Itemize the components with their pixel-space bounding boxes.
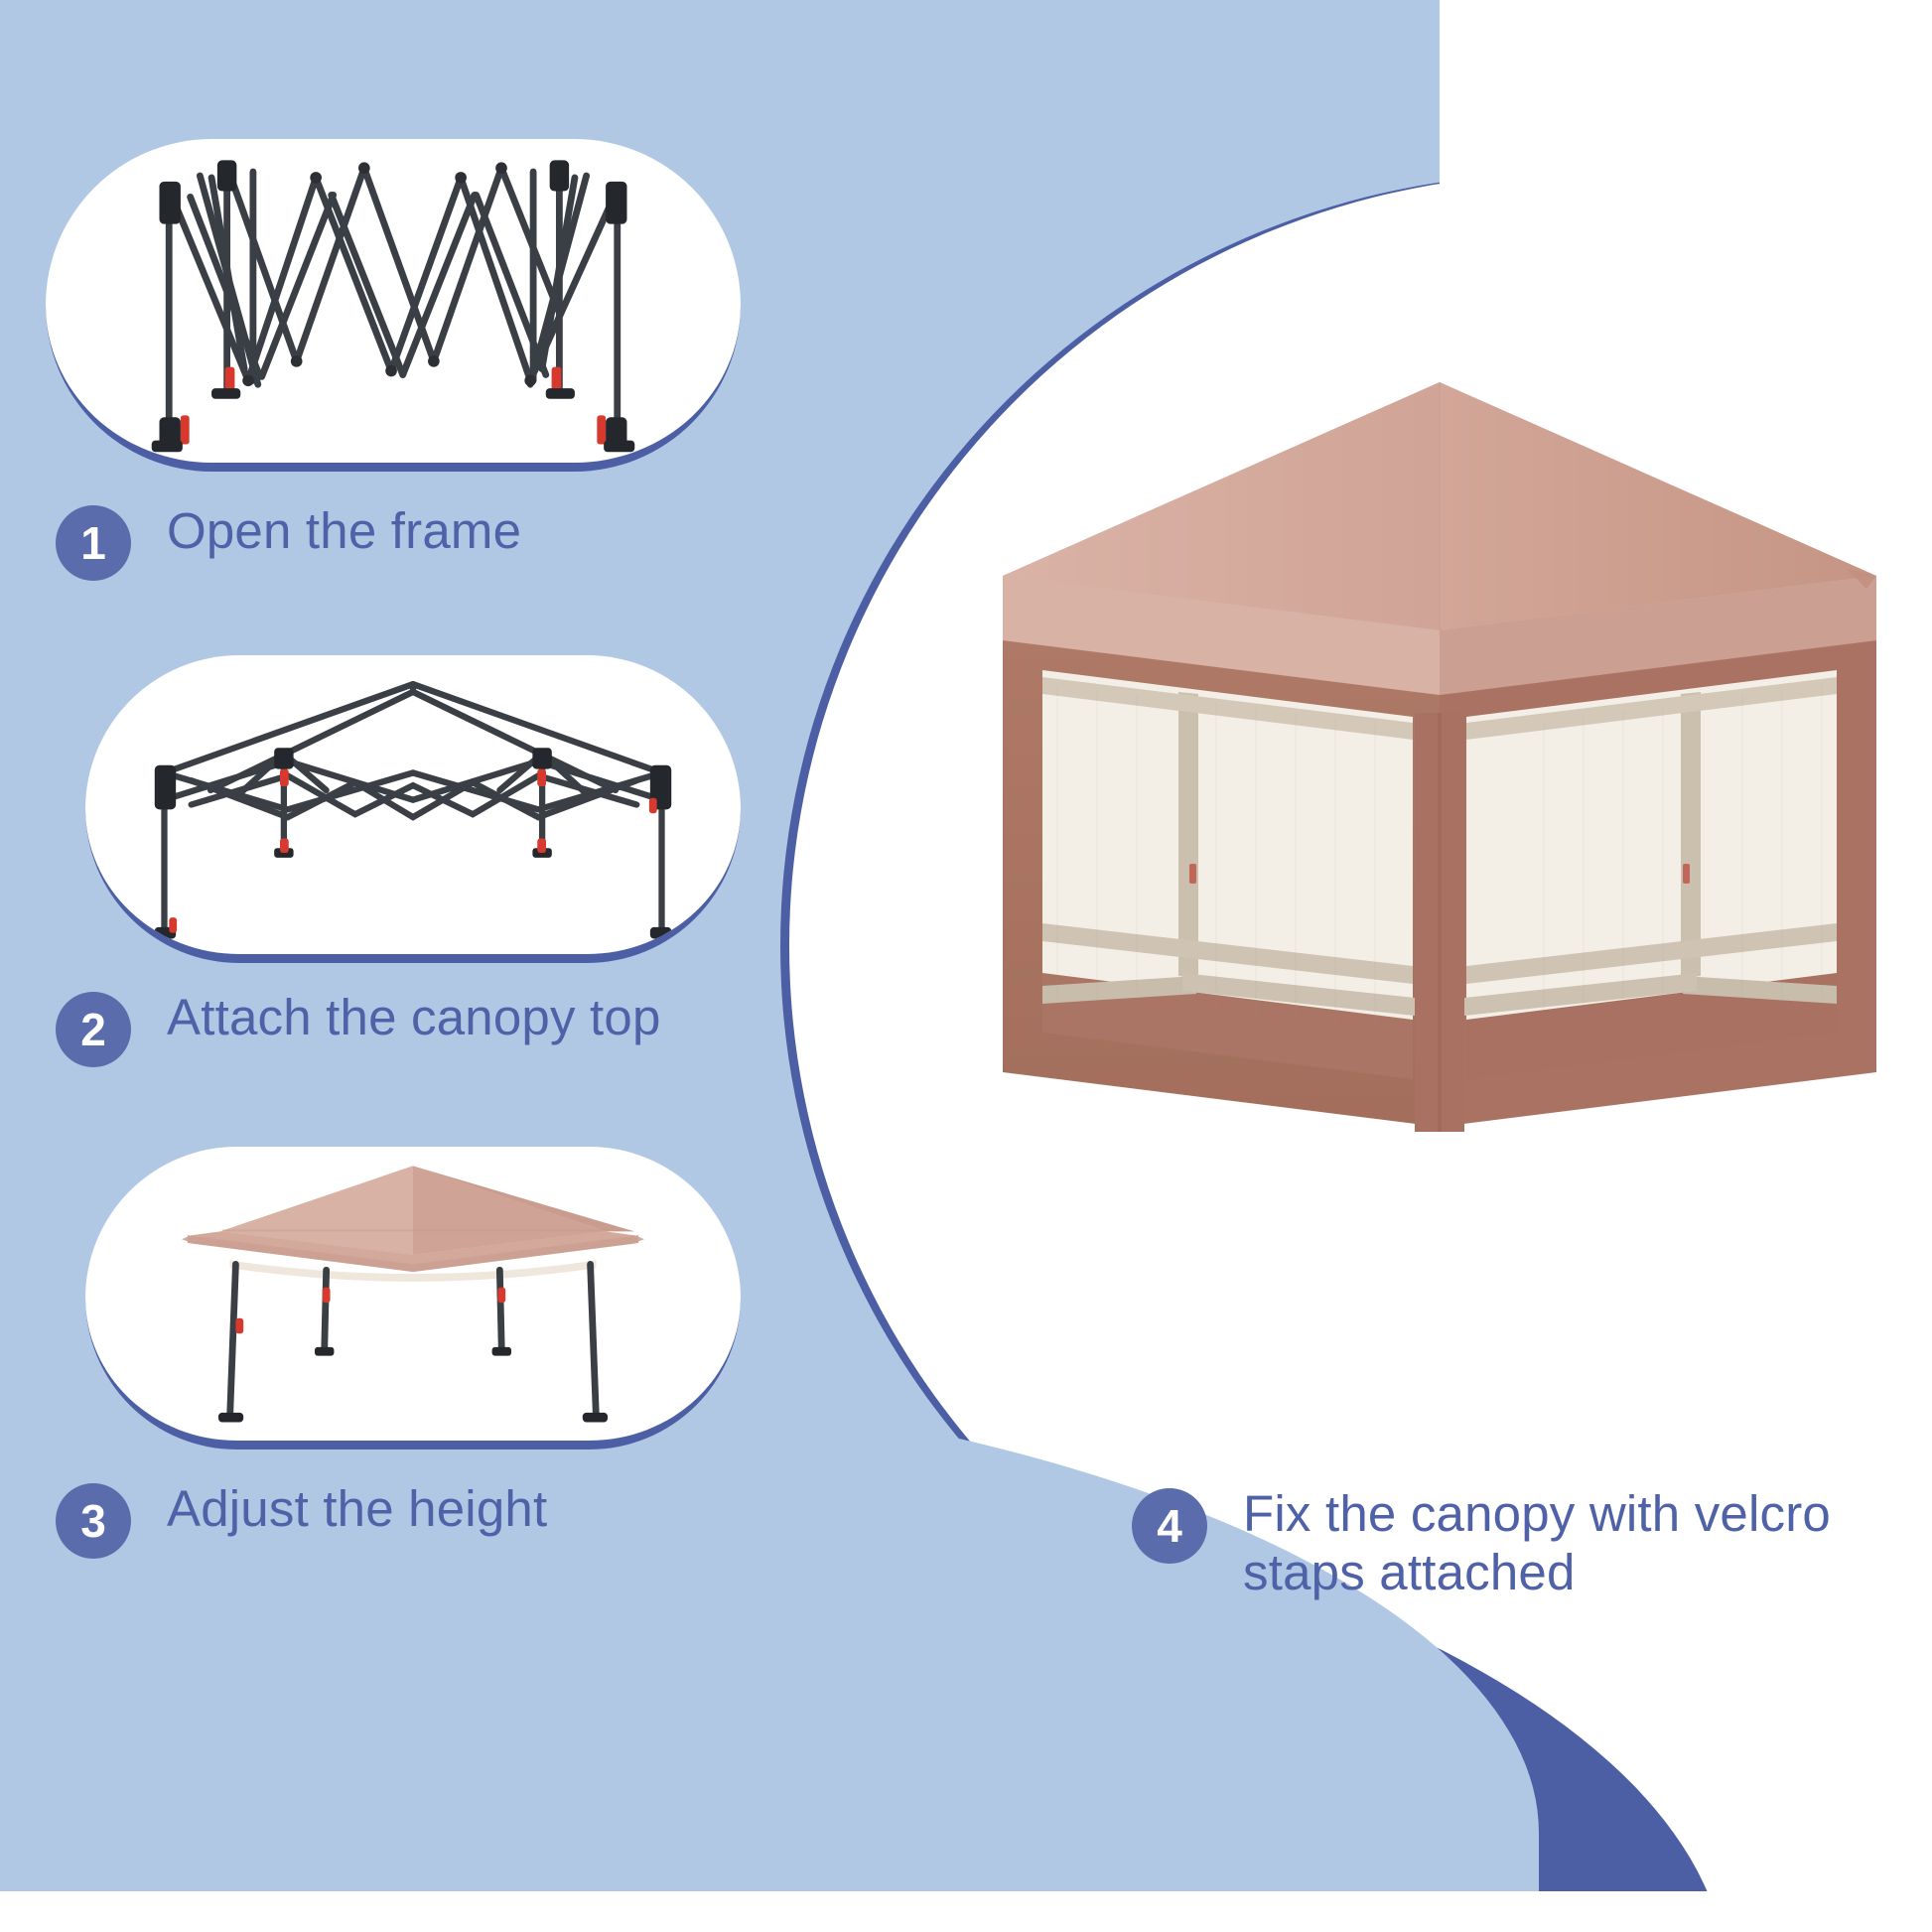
step-2-label: Attach the canopy top (167, 988, 661, 1046)
step-4-row: 4 Fix the canopy with velcro staps attac… (1132, 1484, 1916, 1601)
canopy-frame-illustration (85, 1147, 741, 1441)
step-1-image-card (46, 139, 741, 472)
step-4-label: Fix the canopy with velcro staps attache… (1243, 1484, 1916, 1601)
bottom-white-strip (0, 1891, 1932, 1932)
step-2-badge: 2 (56, 992, 131, 1067)
opened-frame-illustration (85, 655, 741, 954)
folded-frame-illustration (46, 139, 741, 463)
step-3-badge: 3 (56, 1483, 131, 1559)
hero-gazebo-illustration (948, 343, 1931, 1167)
step-3-row: 3 Adjust the height (56, 1479, 751, 1559)
step-2-image-card (85, 655, 741, 963)
step-1-row: 1 Open the frame (56, 501, 751, 581)
step-3-image-card (85, 1147, 741, 1449)
step-1-badge: 1 (56, 505, 131, 581)
step-1-label: Open the frame (167, 501, 521, 560)
step-2-row: 2 Attach the canopy top (56, 988, 751, 1067)
step-4-badge: 4 (1132, 1488, 1207, 1564)
infographic-canvas: 1 Open the frame 2 Attach the canopy top… (0, 0, 1932, 1932)
step-3-label: Adjust the height (167, 1479, 547, 1538)
gazebo-mesh-walls (948, 343, 1931, 1167)
